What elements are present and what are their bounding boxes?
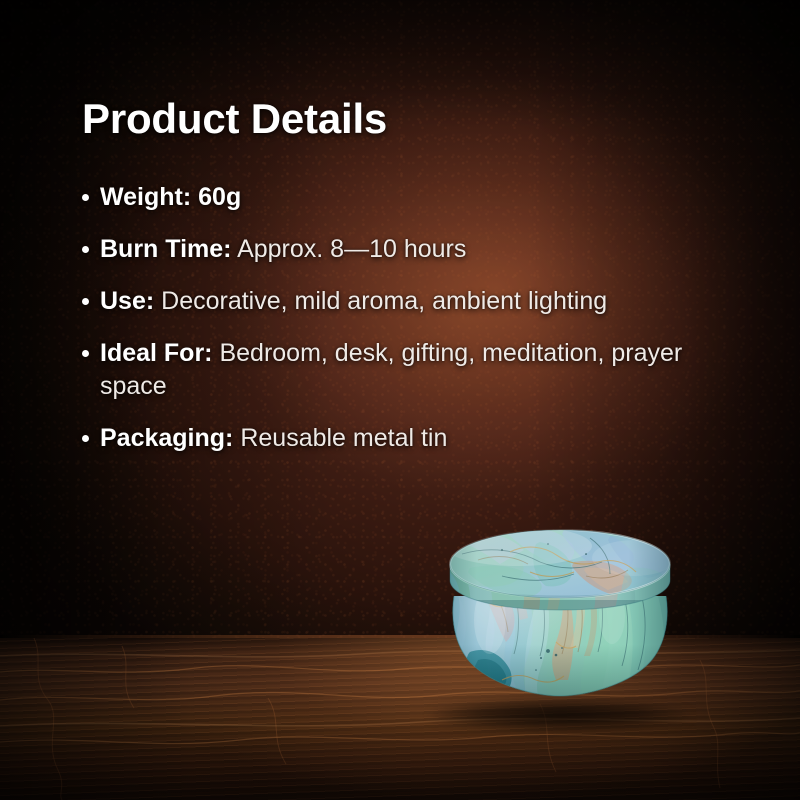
spec-value-packaging: Reusable metal tin: [240, 424, 447, 452]
spec-label-weight: Weight:: [100, 183, 191, 211]
page-title: Product Details: [82, 98, 742, 140]
spec-value-use: Decorative, mild aroma, ambient lighting: [161, 287, 607, 315]
spec-item-weight: Weight: 60g: [82, 181, 742, 214]
spec-item-packaging: Packaging: Reusable metal tin: [82, 422, 742, 455]
spec-label-burn-time: Burn Time:: [100, 235, 232, 263]
spec-item-burn-time: Burn Time: Approx. 8—10 hours: [82, 233, 742, 266]
spec-item-ideal-for: Ideal For: Bedroom, desk, gifting, medit…: [82, 337, 742, 403]
spec-label-packaging: Packaging:: [100, 424, 233, 452]
spec-value-weight: 60g: [198, 183, 241, 211]
product-image-candle-tin: [444, 524, 676, 724]
product-details-text-block: Product Details Weight: 60g Burn Time: A…: [82, 98, 742, 474]
candle-tin-illustration: [444, 524, 676, 724]
product-detail-image: Product Details Weight: 60g Burn Time: A…: [0, 0, 800, 800]
spec-list: Weight: 60g Burn Time: Approx. 8—10 hour…: [82, 181, 742, 455]
spec-label-use: Use:: [100, 287, 154, 315]
spec-value-burn-time: Approx. 8—10 hours: [237, 235, 466, 263]
spec-label-ideal-for: Ideal For:: [100, 339, 213, 367]
spec-item-use: Use: Decorative, mild aroma, ambient lig…: [82, 285, 742, 318]
